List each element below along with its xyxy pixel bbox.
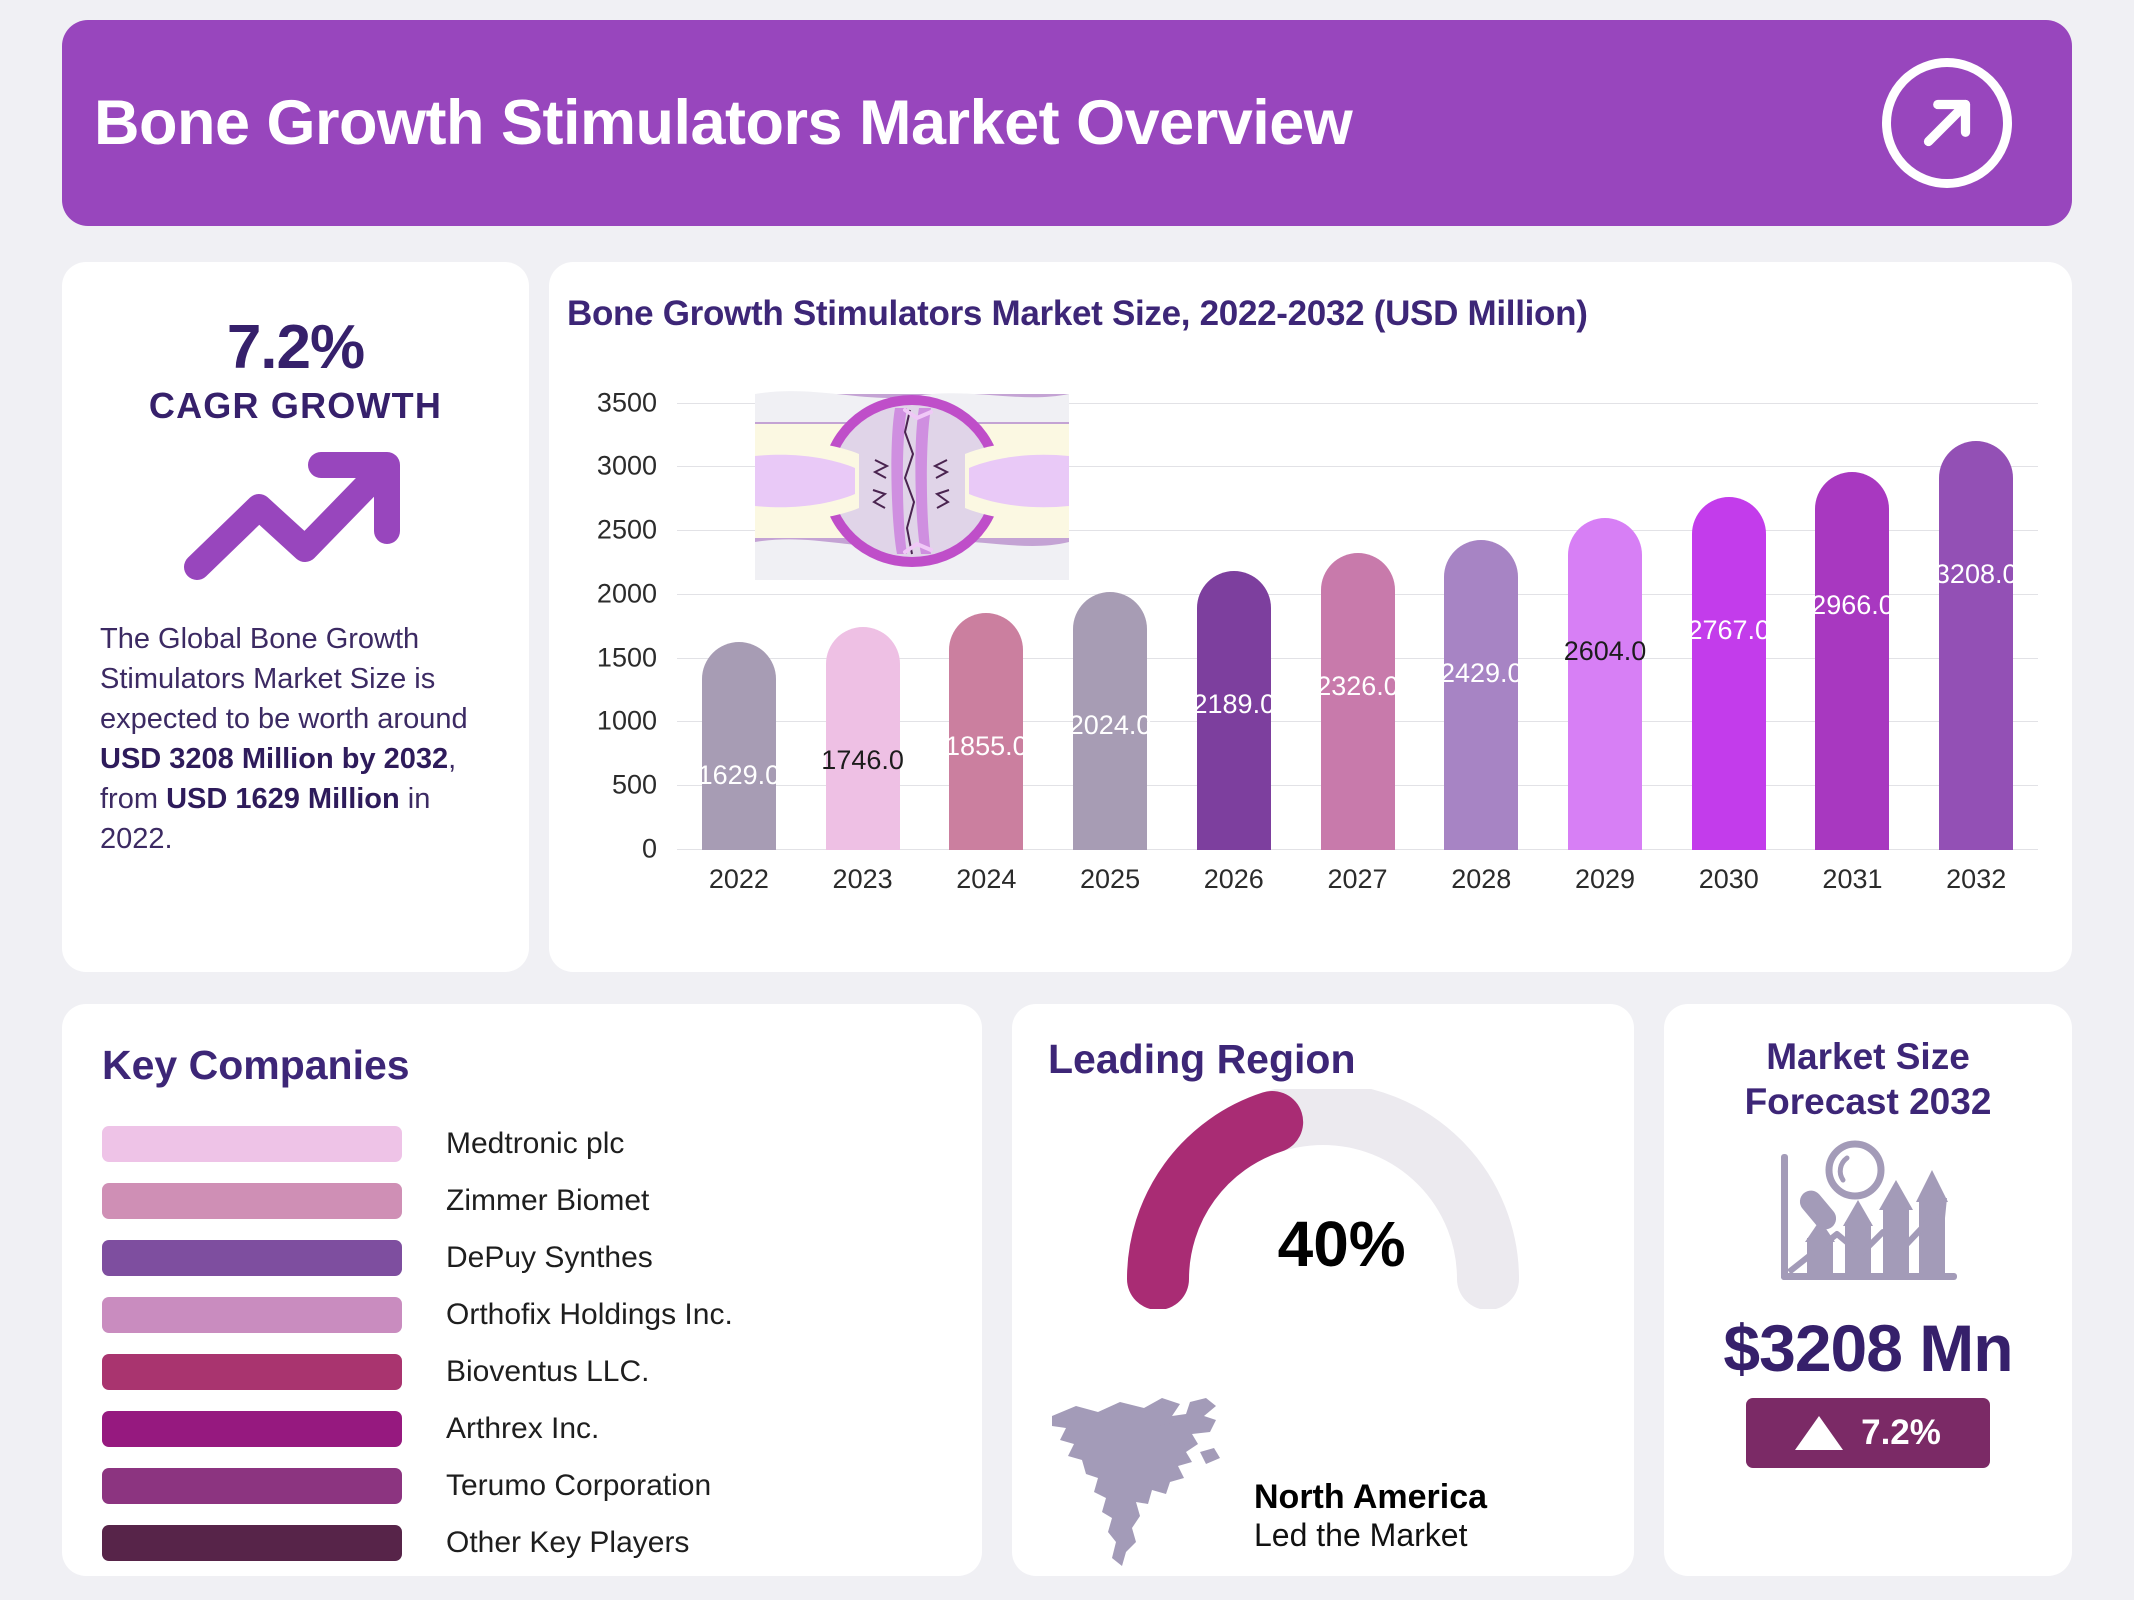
leading-region-title: Leading Region (1012, 1004, 1634, 1083)
y-axis-tick: 1500 (597, 642, 657, 673)
y-axis-tick: 3500 (597, 387, 657, 418)
company-name: Terumo Corporation (446, 1469, 711, 1503)
chart-bar-value-label: 1629.0 (698, 760, 781, 791)
chart-bar-group: 2966.02031 (1791, 378, 1915, 850)
company-color-swatch (102, 1240, 402, 1276)
chart-bar-group: 2189.02026 (1172, 378, 1296, 850)
x-axis-tick: 2022 (709, 864, 769, 895)
list-item[interactable]: Medtronic plc (102, 1115, 942, 1172)
chart-bar-value-label: 1746.0 (821, 745, 904, 776)
arrow-up-right-icon (1910, 86, 1984, 160)
chart-bar-value-label: 1855.0 (945, 731, 1028, 762)
x-axis-tick: 2027 (1327, 864, 1387, 895)
key-companies-card: Key Companies Medtronic plcZimmer Biomet… (62, 1004, 982, 1576)
company-name: DePuy Synthes (446, 1241, 653, 1275)
cagr-label: CAGR GROWTH (62, 385, 529, 427)
company-color-swatch (102, 1468, 402, 1504)
x-axis-tick: 2028 (1451, 864, 1511, 895)
chart-bar-group: 2326.02027 (1296, 378, 1420, 850)
chart-bar-group: 1855.02024 (924, 378, 1048, 850)
triangle-up-icon (1795, 1416, 1843, 1450)
forecast-title-line1: Market Size (1766, 1036, 1970, 1077)
chart-bar-group: 2767.02030 (1667, 378, 1791, 850)
region-caption: North America Led the Market (1254, 1478, 1487, 1572)
company-color-swatch (102, 1354, 402, 1390)
chart-bar-value-label: 2966.0 (1811, 590, 1894, 621)
y-axis-tick: 2500 (597, 515, 657, 546)
list-item[interactable]: Zimmer Biomet (102, 1172, 942, 1229)
bar-series: 1629.020221746.020231855.020242024.02025… (677, 378, 2038, 850)
chart-bar[interactable]: 2189.0 (1197, 571, 1271, 850)
list-item[interactable]: Terumo Corporation (102, 1457, 942, 1514)
chart-bar[interactable]: 3208.0 (1939, 441, 2013, 850)
chart-bar[interactable]: 1855.0 (949, 613, 1023, 850)
trending-up-arrow-icon (62, 445, 529, 585)
forecast-title-line2: Forecast 2032 (1745, 1081, 1992, 1122)
company-name: Bioventus LLC. (446, 1355, 649, 1389)
chart-bar-group: 1629.02022 (677, 378, 801, 850)
chart-body: 05001000150020002500300035001629.0202217… (565, 348, 2048, 908)
chart-bar-group: 2429.02028 (1419, 378, 1543, 850)
forecast-growth-badge: 7.2% (1746, 1398, 1990, 1468)
company-color-swatch (102, 1297, 402, 1333)
region-name: North America (1254, 1478, 1487, 1517)
y-axis-tick: 1000 (597, 706, 657, 737)
cagr-description: The Global Bone Growth Stimulators Marke… (100, 619, 491, 859)
chart-bar-value-label: 2429.0 (1440, 658, 1523, 689)
x-axis-tick: 2032 (1946, 864, 2006, 895)
chart-bar-value-label: 2604.0 (1564, 636, 1647, 667)
y-axis-tick: 3000 (597, 451, 657, 482)
company-color-swatch (102, 1126, 402, 1162)
chart-plot-area: 05001000150020002500300035001629.0202217… (677, 378, 2038, 850)
chart-bar-group: 2024.02025 (1048, 378, 1172, 850)
x-axis-tick: 2025 (1080, 864, 1140, 895)
list-item[interactable]: Orthofix Holdings Inc. (102, 1286, 942, 1343)
leading-region-card: Leading Region 40% North America Led the… (1012, 1004, 1634, 1576)
chart-bar-group: 1746.02023 (801, 378, 925, 850)
company-color-swatch (102, 1411, 402, 1447)
market-size-chart-card: Bone Growth Stimulators Market Size, 202… (549, 262, 2072, 972)
cagr-card: 7.2% CAGR GROWTH The Global Bone Growth … (62, 262, 529, 972)
chart-bar-value-label: 2326.0 (1316, 671, 1399, 702)
chart-bar-group: 3208.02032 (1914, 378, 2038, 850)
chart-bar[interactable]: 1746.0 (826, 627, 900, 850)
x-axis-tick: 2029 (1575, 864, 1635, 895)
company-name: Arthrex Inc. (446, 1412, 599, 1446)
chart-bar[interactable]: 2767.0 (1692, 497, 1766, 850)
list-item[interactable]: Other Key Players (102, 1514, 942, 1571)
x-axis-tick: 2023 (833, 864, 893, 895)
chart-title: Bone Growth Stimulators Market Size, 202… (549, 262, 2072, 334)
market-research-growth-chart-icon (1664, 1134, 2072, 1304)
company-name: Orthofix Holdings Inc. (446, 1298, 733, 1332)
arrow-up-right-badge[interactable] (1882, 58, 2012, 188)
chart-bar[interactable]: 2024.0 (1073, 592, 1147, 850)
chart-bar-group: 2604.02029 (1543, 378, 1667, 850)
list-item[interactable]: Bioventus LLC. (102, 1343, 942, 1400)
y-axis-tick: 500 (612, 770, 657, 801)
gauge-percent-value: 40% (1278, 1207, 1406, 1281)
x-axis-tick: 2030 (1699, 864, 1759, 895)
company-name: Other Key Players (446, 1526, 689, 1560)
region-footer: North America Led the Market (1012, 1382, 1634, 1576)
x-axis-tick: 2031 (1822, 864, 1882, 895)
chart-bar[interactable]: 2966.0 (1815, 472, 1889, 850)
page-header: Bone Growth Stimulators Market Overview (62, 20, 2072, 226)
forecast-value: $3208 Mn (1664, 1310, 2072, 1386)
list-item[interactable]: Arthrex Inc. (102, 1400, 942, 1457)
y-axis-tick: 0 (642, 834, 657, 865)
cagr-value: 7.2% (62, 312, 529, 383)
page-title: Bone Growth Stimulators Market Overview (94, 87, 1352, 159)
region-gauge: 40% (1012, 1089, 1634, 1309)
key-companies-list: Medtronic plcZimmer BiometDePuy SynthesO… (62, 1115, 982, 1571)
company-name: Medtronic plc (446, 1127, 624, 1161)
infographic-page: Bone Growth Stimulators Market Overview … (0, 0, 2134, 1600)
chart-bar-value-label: 2024.0 (1069, 710, 1152, 741)
chart-bar-value-label: 2767.0 (1687, 615, 1770, 646)
north-america-map-icon (1040, 1382, 1250, 1572)
region-subtitle: Led the Market (1254, 1517, 1487, 1554)
x-axis-tick: 2024 (956, 864, 1016, 895)
company-name: Zimmer Biomet (446, 1184, 649, 1218)
chart-bar[interactable]: 2604.0 (1568, 518, 1642, 850)
chart-bar[interactable]: 2429.0 (1444, 540, 1518, 850)
key-companies-title: Key Companies (62, 1004, 982, 1089)
x-axis-tick: 2026 (1204, 864, 1264, 895)
company-color-swatch (102, 1183, 402, 1219)
forecast-growth-value: 7.2% (1861, 1413, 1941, 1453)
y-axis-tick: 2000 (597, 578, 657, 609)
chart-bar-value-label: 2189.0 (1193, 689, 1276, 720)
forecast-title: Market Size Forecast 2032 (1664, 1004, 2072, 1124)
chart-bar-value-label: 3208.0 (1935, 559, 2018, 590)
company-color-swatch (102, 1525, 402, 1561)
chart-bar[interactable]: 1629.0 (702, 642, 776, 850)
list-item[interactable]: DePuy Synthes (102, 1229, 942, 1286)
market-size-forecast-card: Market Size Forecast 2032 (1664, 1004, 2072, 1576)
chart-bar[interactable]: 2326.0 (1321, 553, 1395, 850)
